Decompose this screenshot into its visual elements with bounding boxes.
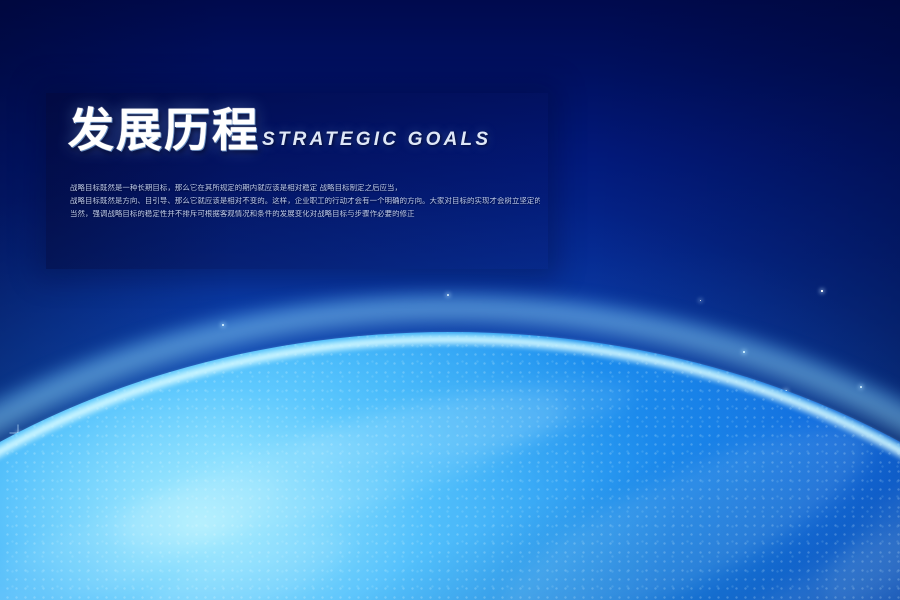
headline-title-row: 发展历程 STRATEGIC GOALS bbox=[68, 107, 491, 153]
headline-panel: 发展历程 STRATEGIC GOALS 战略目标既然是一种长期目标，那么它在其… bbox=[46, 93, 548, 269]
page-title: 发展历程 bbox=[68, 107, 260, 153]
page-subtitle: STRATEGIC GOALS bbox=[262, 130, 491, 153]
description-paragraph: 战略目标既然是一种长期目标，那么它在其所规定的期内就应该是相对稳定 战略目标制定… bbox=[70, 184, 540, 192]
star bbox=[700, 300, 701, 301]
earth-globe bbox=[0, 332, 900, 600]
description-paragraph: 战略目标既然是方向、目引导、那么它就应该是相对不变的。这样，企业职工的行动才会有… bbox=[70, 197, 540, 205]
description-text: 战略目标既然是一种长期目标，那么它在其所规定的期内就应该是相对稳定 战略目标制定… bbox=[70, 184, 540, 222]
star bbox=[821, 290, 822, 291]
banner-scene: 发展历程 STRATEGIC GOALS 战略目标既然是一种长期目标，那么它在其… bbox=[0, 0, 900, 600]
description-paragraph: 当然，强调战略目标的稳定性并不排斥可根据客观情况和条件的发展变化对战略目标与步骤… bbox=[70, 210, 540, 218]
